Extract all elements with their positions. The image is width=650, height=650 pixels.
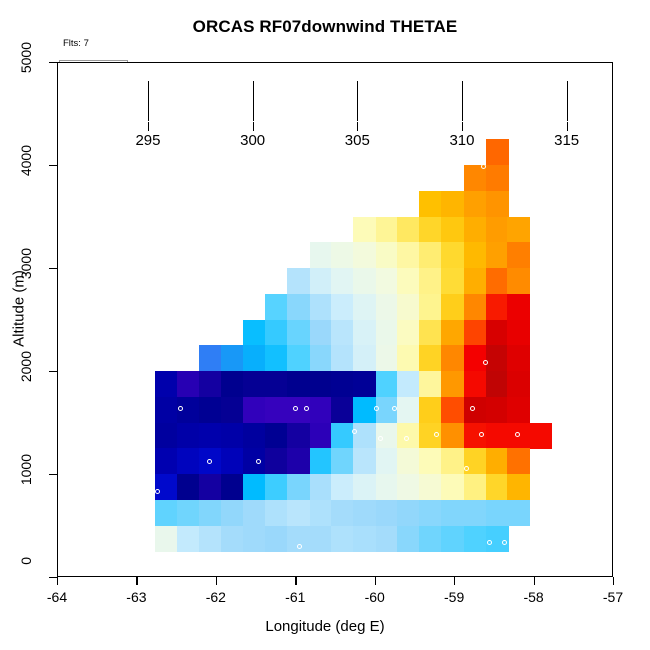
heatmap-cell bbox=[486, 397, 509, 423]
x-axis-tick-label: -58 bbox=[523, 589, 543, 605]
sample-marker bbox=[429, 558, 434, 563]
x-axis-tick bbox=[136, 577, 137, 585]
sample-marker bbox=[470, 406, 475, 411]
heatmap-cell bbox=[419, 448, 442, 474]
heatmap-cell bbox=[199, 474, 222, 500]
heatmap-cell bbox=[441, 320, 464, 346]
heatmap-cell bbox=[199, 500, 222, 526]
heatmap-cell bbox=[441, 242, 464, 268]
heatmap-cell bbox=[376, 294, 399, 320]
heatmap-cell bbox=[310, 294, 333, 320]
heatmap-cell bbox=[353, 345, 376, 371]
heatmap-cell bbox=[221, 423, 244, 449]
flight-count-label: Flts: 7 bbox=[63, 38, 89, 49]
heatmap-cell bbox=[486, 139, 509, 165]
heatmap-cell bbox=[287, 371, 310, 397]
heatmap-cell bbox=[507, 268, 530, 294]
heatmap-cell bbox=[376, 448, 399, 474]
x-axis-tick bbox=[295, 577, 296, 585]
sample-marker bbox=[245, 560, 250, 565]
heatmap-cell bbox=[464, 268, 487, 294]
heatmap-cell bbox=[177, 500, 200, 526]
heatmap-cell bbox=[221, 526, 244, 552]
heatmap-cell bbox=[287, 423, 310, 449]
heatmap-cell bbox=[265, 526, 288, 552]
heatmap-cell bbox=[287, 294, 310, 320]
x-axis-tick bbox=[57, 577, 58, 585]
heatmap-cell bbox=[221, 500, 244, 526]
colorbar-tick bbox=[253, 122, 254, 131]
heatmap-cell bbox=[397, 448, 420, 474]
heatmap-cell bbox=[397, 397, 420, 423]
heatmap-cell bbox=[243, 526, 266, 552]
heatmap-cell bbox=[464, 320, 487, 346]
heatmap-cell bbox=[310, 448, 333, 474]
sample-marker bbox=[481, 164, 486, 169]
heatmap-cell bbox=[486, 345, 509, 371]
colorbar-divider bbox=[253, 81, 254, 121]
heatmap-cell bbox=[376, 474, 399, 500]
heatmap-cell bbox=[310, 320, 333, 346]
heatmap-cell bbox=[265, 448, 288, 474]
sample-marker bbox=[434, 432, 439, 437]
sample-marker bbox=[360, 560, 365, 565]
heatmap-cell bbox=[353, 423, 376, 449]
colorbar-tick-label: 305 bbox=[345, 132, 370, 149]
heatmap-cell bbox=[287, 320, 310, 346]
heatmap-cell bbox=[310, 242, 333, 268]
heatmap-cell bbox=[419, 191, 442, 217]
colorbar-divider bbox=[357, 81, 358, 121]
heatmap-cell bbox=[464, 500, 487, 526]
heatmap-cell bbox=[486, 165, 509, 191]
heatmap-cell bbox=[376, 345, 399, 371]
heatmap-cell bbox=[441, 397, 464, 423]
heatmap-cell bbox=[486, 526, 509, 552]
heatmap-cell bbox=[331, 242, 354, 268]
heatmap-cell bbox=[353, 320, 376, 346]
heatmap-cell bbox=[265, 423, 288, 449]
heatmap-cell bbox=[507, 500, 530, 526]
heatmap-cell bbox=[155, 474, 178, 500]
x-axis-tick-label: -64 bbox=[47, 589, 67, 605]
heatmap-cell bbox=[464, 474, 487, 500]
heatmap-cell bbox=[243, 345, 266, 371]
colorbar-tick bbox=[462, 122, 463, 131]
heatmap-cell bbox=[486, 217, 509, 243]
heatmap-cell bbox=[353, 268, 376, 294]
heatmap-cell bbox=[221, 448, 244, 474]
heatmap-cell bbox=[353, 397, 376, 423]
heatmap-cell bbox=[397, 217, 420, 243]
heatmap-cell bbox=[310, 268, 333, 294]
heatmap-cell bbox=[243, 397, 266, 423]
heatmap-cell bbox=[464, 217, 487, 243]
heatmap-cell bbox=[331, 371, 354, 397]
heatmap-cell bbox=[507, 448, 530, 474]
heatmap-cell bbox=[376, 268, 399, 294]
heatmap-cell bbox=[331, 345, 354, 371]
heatmap-cell bbox=[507, 217, 530, 243]
sample-marker bbox=[304, 406, 309, 411]
heatmap-cell bbox=[353, 371, 376, 397]
x-axis-tick bbox=[534, 577, 535, 585]
heatmap-cell bbox=[177, 371, 200, 397]
heatmap-cell bbox=[331, 294, 354, 320]
heatmap-cell bbox=[464, 397, 487, 423]
heatmap-cell bbox=[441, 500, 464, 526]
heatmap-cell bbox=[221, 345, 244, 371]
heatmap-cell bbox=[419, 397, 442, 423]
heatmap-cell bbox=[155, 423, 178, 449]
sample-marker bbox=[255, 560, 260, 565]
heatmap-cell bbox=[376, 320, 399, 346]
y-axis-tick-label: 0 bbox=[18, 557, 34, 595]
heatmap-cell bbox=[331, 474, 354, 500]
heatmap-cell bbox=[486, 320, 509, 346]
heatmap-cell bbox=[353, 474, 376, 500]
heatmap-cell bbox=[441, 217, 464, 243]
heatmap-cell bbox=[265, 500, 288, 526]
heatmap-cell bbox=[464, 526, 487, 552]
colorbar-tick-label: 310 bbox=[449, 132, 474, 149]
heatmap-cell bbox=[310, 345, 333, 371]
heatmap-cell bbox=[265, 345, 288, 371]
heatmap-cell bbox=[221, 397, 244, 423]
heatmap-cell bbox=[353, 294, 376, 320]
heatmap-cell bbox=[464, 191, 487, 217]
heatmap-cell bbox=[419, 320, 442, 346]
sample-marker bbox=[293, 406, 298, 411]
heatmap-cell bbox=[441, 423, 464, 449]
heatmap-cell bbox=[419, 242, 442, 268]
heatmap-cell bbox=[507, 320, 530, 346]
chart-title: ORCAS RF07downwind THETAE bbox=[0, 17, 650, 37]
heatmap-cell bbox=[155, 500, 178, 526]
y-axis-tick-label: 5000 bbox=[18, 42, 34, 80]
colorbar-divider bbox=[567, 81, 568, 121]
heatmap-cell bbox=[310, 474, 333, 500]
heatmap-cell bbox=[376, 500, 399, 526]
chart-canvas: ORCAS RF07downwind THETAE Flts: 7 MMDD: … bbox=[0, 0, 650, 650]
heatmap-cell bbox=[199, 371, 222, 397]
heatmap-cell bbox=[376, 217, 399, 243]
x-axis-title: Longitude (deg E) bbox=[0, 618, 650, 635]
heatmap-cell bbox=[419, 371, 442, 397]
heatmap-cell bbox=[331, 448, 354, 474]
heatmap-cell bbox=[486, 448, 509, 474]
heatmap-cell bbox=[331, 268, 354, 294]
heatmap-cell bbox=[419, 474, 442, 500]
heatmap-cell bbox=[376, 371, 399, 397]
heatmap-cell bbox=[331, 397, 354, 423]
heatmap-cell bbox=[265, 397, 288, 423]
heatmap-cell bbox=[464, 242, 487, 268]
heatmap-cell bbox=[199, 345, 222, 371]
x-axis-tick bbox=[216, 577, 217, 585]
colorbar-tick-label: 315 bbox=[554, 132, 579, 149]
heatmap-cell bbox=[419, 268, 442, 294]
y-axis-tick bbox=[49, 474, 57, 475]
heatmap-cell bbox=[419, 526, 442, 552]
heatmap-cell bbox=[155, 371, 178, 397]
heatmap-cell bbox=[397, 423, 420, 449]
heatmap-cell bbox=[507, 294, 530, 320]
heatmap-cell bbox=[486, 423, 509, 449]
heatmap-cell bbox=[265, 320, 288, 346]
heatmap-cell bbox=[441, 294, 464, 320]
heatmap-cell bbox=[265, 474, 288, 500]
heatmap-cell bbox=[177, 448, 200, 474]
heatmap-cell bbox=[287, 474, 310, 500]
y-axis-tick bbox=[49, 577, 57, 578]
colorbar-divider bbox=[148, 81, 149, 121]
heatmap-cell bbox=[464, 345, 487, 371]
heatmap-cell bbox=[199, 526, 222, 552]
x-axis-tick bbox=[375, 577, 376, 585]
heatmap-cell bbox=[243, 371, 266, 397]
x-axis-tick-label: -57 bbox=[603, 589, 623, 605]
y-axis-tick bbox=[49, 371, 57, 372]
heatmap-cell bbox=[397, 294, 420, 320]
heatmap-cell bbox=[419, 294, 442, 320]
heatmap-cell bbox=[243, 474, 266, 500]
heatmap-cell bbox=[486, 294, 509, 320]
colorbar-divider bbox=[462, 81, 463, 121]
colorbar-tick-label: 295 bbox=[135, 132, 160, 149]
sample-marker bbox=[297, 544, 302, 549]
heatmap-cell bbox=[177, 526, 200, 552]
heatmap-cell bbox=[507, 397, 530, 423]
x-axis-tick-label: -62 bbox=[206, 589, 226, 605]
heatmap-cell bbox=[507, 242, 530, 268]
x-axis-tick-label: -61 bbox=[285, 589, 305, 605]
heatmap-cell bbox=[221, 474, 244, 500]
sample-marker bbox=[464, 466, 469, 471]
heatmap-cell bbox=[155, 526, 178, 552]
heatmap-cell bbox=[331, 320, 354, 346]
heatmap-cell bbox=[353, 500, 376, 526]
heatmap-cell bbox=[331, 423, 354, 449]
heatmap-cell bbox=[419, 500, 442, 526]
sample-marker bbox=[392, 406, 397, 411]
heatmap-cell bbox=[199, 397, 222, 423]
heatmap-cell bbox=[310, 500, 333, 526]
sample-marker bbox=[515, 540, 520, 545]
sample-marker bbox=[167, 560, 172, 565]
sample-marker bbox=[374, 406, 379, 411]
heatmap-cell bbox=[177, 423, 200, 449]
heatmap-cell bbox=[441, 526, 464, 552]
heatmap-cell bbox=[353, 242, 376, 268]
heatmap-cell bbox=[310, 397, 333, 423]
sample-marker bbox=[155, 489, 160, 494]
sample-marker bbox=[479, 432, 484, 437]
heatmap-cell bbox=[486, 268, 509, 294]
heatmap-cell bbox=[397, 268, 420, 294]
y-axis-tick bbox=[49, 62, 57, 63]
heatmap-cell bbox=[265, 294, 288, 320]
colorbar-tick bbox=[148, 122, 149, 131]
sample-marker bbox=[372, 560, 377, 565]
sample-marker bbox=[502, 540, 507, 545]
heatmap-cell bbox=[397, 526, 420, 552]
heatmap-cell bbox=[221, 371, 244, 397]
heatmap-cell bbox=[464, 294, 487, 320]
heatmap-cell bbox=[464, 371, 487, 397]
heatmap-cell bbox=[287, 448, 310, 474]
y-axis-tick bbox=[49, 268, 57, 269]
heatmap-cell bbox=[397, 345, 420, 371]
colorbar-tick-label: 300 bbox=[240, 132, 265, 149]
heatmap-cell bbox=[376, 242, 399, 268]
heatmap-cell bbox=[507, 345, 530, 371]
x-axis-tick bbox=[454, 577, 455, 585]
heatmap-cell bbox=[331, 500, 354, 526]
heatmap-cell bbox=[486, 474, 509, 500]
heatmap-cell bbox=[486, 500, 509, 526]
heatmap-cell bbox=[353, 448, 376, 474]
heatmap-cell bbox=[419, 345, 442, 371]
y-axis-tick-label: 2000 bbox=[18, 351, 34, 389]
heatmap-cell bbox=[441, 474, 464, 500]
y-axis-tick-label: 4000 bbox=[18, 145, 34, 183]
heatmap-cell bbox=[331, 526, 354, 552]
heatmap-cell bbox=[243, 500, 266, 526]
sample-marker bbox=[178, 560, 183, 565]
heatmap-cell bbox=[199, 423, 222, 449]
heatmap-cell bbox=[243, 320, 266, 346]
heatmap-cell bbox=[397, 242, 420, 268]
x-axis-tick-label: -59 bbox=[444, 589, 464, 605]
x-axis-tick-label: -63 bbox=[126, 589, 146, 605]
y-axis-tick-label: 1000 bbox=[18, 454, 34, 492]
heatmap-cell bbox=[486, 371, 509, 397]
heatmap-cell bbox=[243, 423, 266, 449]
heatmap-cell bbox=[397, 371, 420, 397]
x-axis-tick-label: -60 bbox=[365, 589, 385, 605]
colorbar-tick bbox=[567, 122, 568, 131]
heatmap-cell bbox=[486, 191, 509, 217]
sample-marker bbox=[515, 432, 520, 437]
x-axis-tick bbox=[613, 577, 614, 585]
heatmap-cell bbox=[353, 526, 376, 552]
sample-marker bbox=[156, 560, 161, 565]
heatmap-cell bbox=[419, 217, 442, 243]
sample-marker bbox=[453, 560, 458, 565]
heatmap-cell bbox=[441, 191, 464, 217]
heatmap-cell bbox=[507, 474, 530, 500]
heatmap-cell bbox=[397, 474, 420, 500]
heatmap-cell bbox=[287, 268, 310, 294]
sample-marker bbox=[382, 560, 387, 565]
heatmap-cell bbox=[287, 345, 310, 371]
heatmap-cell bbox=[177, 474, 200, 500]
heatmap-cell bbox=[441, 448, 464, 474]
heatmap-cell bbox=[486, 242, 509, 268]
heatmap-cell bbox=[155, 397, 178, 423]
y-axis-tick bbox=[49, 165, 57, 166]
heatmap-cell bbox=[265, 371, 288, 397]
heatmap-cell bbox=[530, 423, 553, 449]
colorbar-tick bbox=[357, 122, 358, 131]
sample-marker bbox=[444, 560, 449, 565]
heatmap-cell bbox=[441, 345, 464, 371]
heatmap-cell bbox=[353, 217, 376, 243]
heatmap-cell bbox=[376, 526, 399, 552]
heatmap-cell bbox=[397, 500, 420, 526]
heatmap-cell bbox=[441, 268, 464, 294]
heatmap-cell bbox=[155, 448, 178, 474]
heatmap-cell bbox=[310, 371, 333, 397]
heatmap-cell bbox=[310, 423, 333, 449]
heatmap-cell bbox=[441, 371, 464, 397]
heatmap-cell bbox=[287, 500, 310, 526]
heatmap-cell bbox=[464, 165, 487, 191]
y-axis-tick-label: 3000 bbox=[18, 248, 34, 286]
heatmap-cell bbox=[310, 526, 333, 552]
heatmap-cell bbox=[507, 371, 530, 397]
heatmap-cell bbox=[397, 320, 420, 346]
heatmap-cell bbox=[243, 448, 266, 474]
